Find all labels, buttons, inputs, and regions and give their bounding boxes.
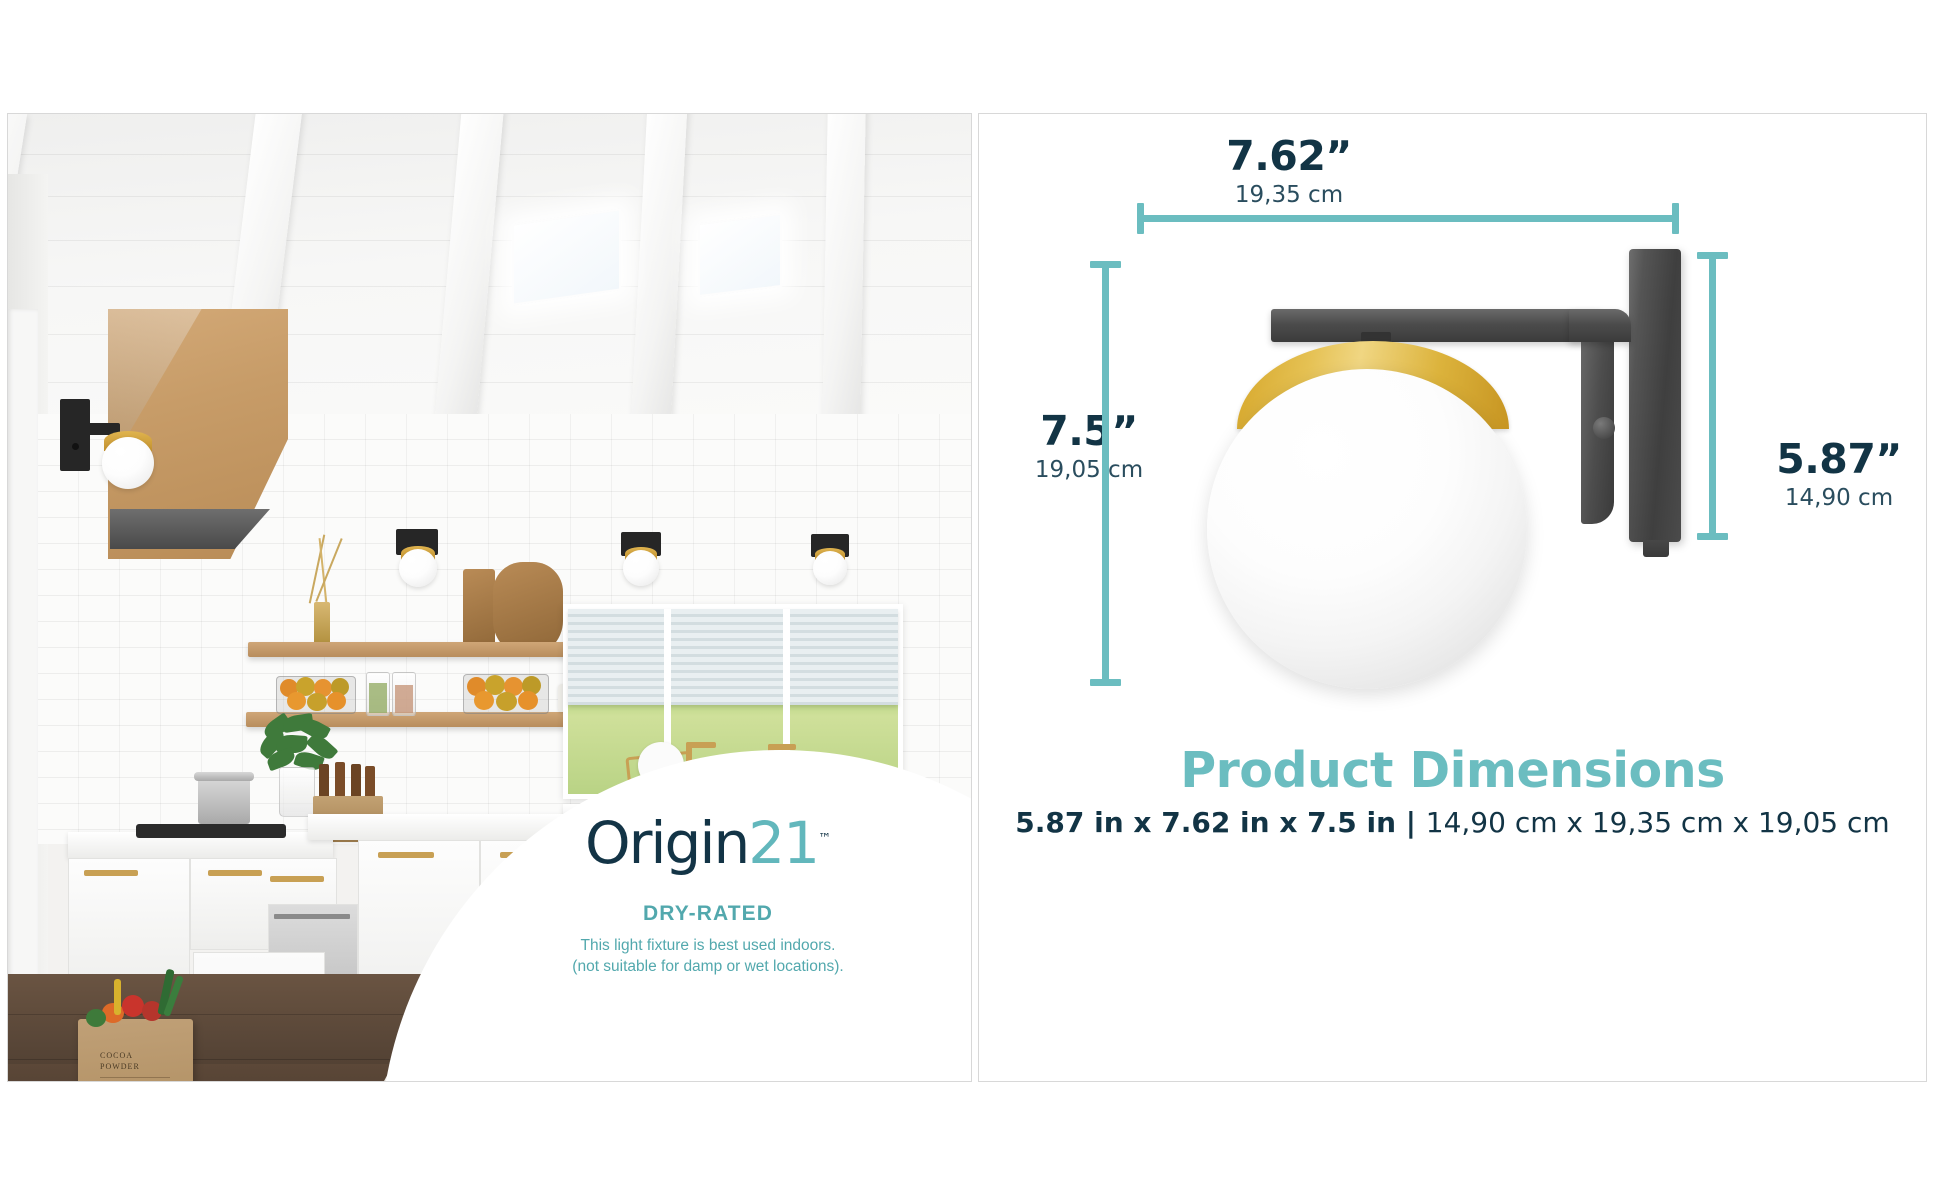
kitchen-scene: HANDLE WITH CARE [8,114,971,1081]
skylight [512,208,621,305]
storage-jar-2 [392,672,416,716]
screenshot-canvas: HANDLE WITH CARE [0,0,1940,1200]
grocery-bag: COCOA POWDER [78,1019,193,1081]
width-inches: 7.62” [1089,136,1489,177]
backplate-height-cm: 14,90 cm [1734,487,1927,510]
induction-cooktop [136,824,286,838]
fixture-arm-horizontal [1271,309,1601,342]
product-illustration [1129,234,1699,674]
window-blinds [568,609,898,705]
fruit-basket-left [276,676,356,714]
trademark-symbol: ™ [818,832,831,847]
brand-badge-content: Origin21™ DRY-RATED This light fixture i… [448,814,968,978]
backplate-height-dimension-line [1709,252,1716,540]
wall-sconce-back-2 [613,532,683,602]
right-dimensions-panel: 7.62” 19,35 cm 7.5” 19,05 cm 5.87” 14,90… [978,113,1927,1082]
left-image-panel: HANDLE WITH CARE [7,113,972,1082]
width-dimension-cap-left [1137,203,1144,234]
cabinet-pull [270,876,324,882]
width-dimension-label: 7.62” 19,35 cm [1089,136,1489,207]
fixture-arm-elbow [1569,309,1631,342]
width-dimension-line [1137,215,1679,222]
dimensions-summary-inches: 5.87 in x 7.62 in x 7.5 in [1015,806,1396,839]
dry-rated-label: DRY-RATED [448,902,968,926]
skylight [698,213,782,297]
storage-jar-1 [366,672,390,716]
dimensions-summary: 5.87 in x 7.62 in x 7.5 in | 14,90 cm x … [979,806,1926,839]
bag-label-line1: COCOA [100,1051,133,1060]
backplate-height-cap-bottom [1697,533,1728,540]
logo-origin-text: Origin [585,809,748,877]
cabinet-pull [84,870,138,876]
cabinet-pull [378,852,434,858]
bag-label-line2: POWDER [100,1062,140,1071]
overall-height-cap-bottom [1090,679,1121,686]
pot-lid [194,772,254,781]
wall-sconce-back-1 [388,529,458,599]
backplate-height-inches: 5.87” [1734,439,1927,480]
faucet-1-spout [686,742,716,748]
logo-21-text: 21 [748,809,818,877]
oven-handle [274,914,350,919]
dried-grass-vase [308,534,338,644]
dry-rated-line1: This light fixture is best used indoors. [448,935,968,956]
overall-height-dimension-line [1102,261,1109,686]
fixture-backplate [1629,249,1681,542]
dimensions-summary-cm: 14,90 cm x 19,35 cm x 19,05 cm [1426,806,1890,839]
backplate-height-dimension-label: 5.87” 14,90 cm [1734,439,1927,510]
wall-sconce-back-3 [803,534,873,604]
wall-sconce-left [56,399,166,509]
width-dimension-cap-right [1672,203,1679,234]
opal-glass-globe [1207,369,1527,689]
dimensions-summary-separator: | [1396,806,1426,839]
fixture-knob [1593,417,1615,439]
width-cm: 19,35 cm [1089,184,1489,207]
cabinet-pull [208,870,262,876]
overall-height-cap-top [1090,261,1121,268]
backplate-height-cap-top [1697,252,1728,259]
product-dimensions-title: Product Dimensions [979,742,1926,799]
dry-rated-line2: (not suitable for damp or wet locations)… [448,956,968,977]
doorway [8,309,38,1009]
fruit-basket-right [463,674,549,714]
stock-pot [198,778,250,824]
fixture-plug [1643,540,1669,557]
origin21-logo: Origin21™ [448,814,968,872]
